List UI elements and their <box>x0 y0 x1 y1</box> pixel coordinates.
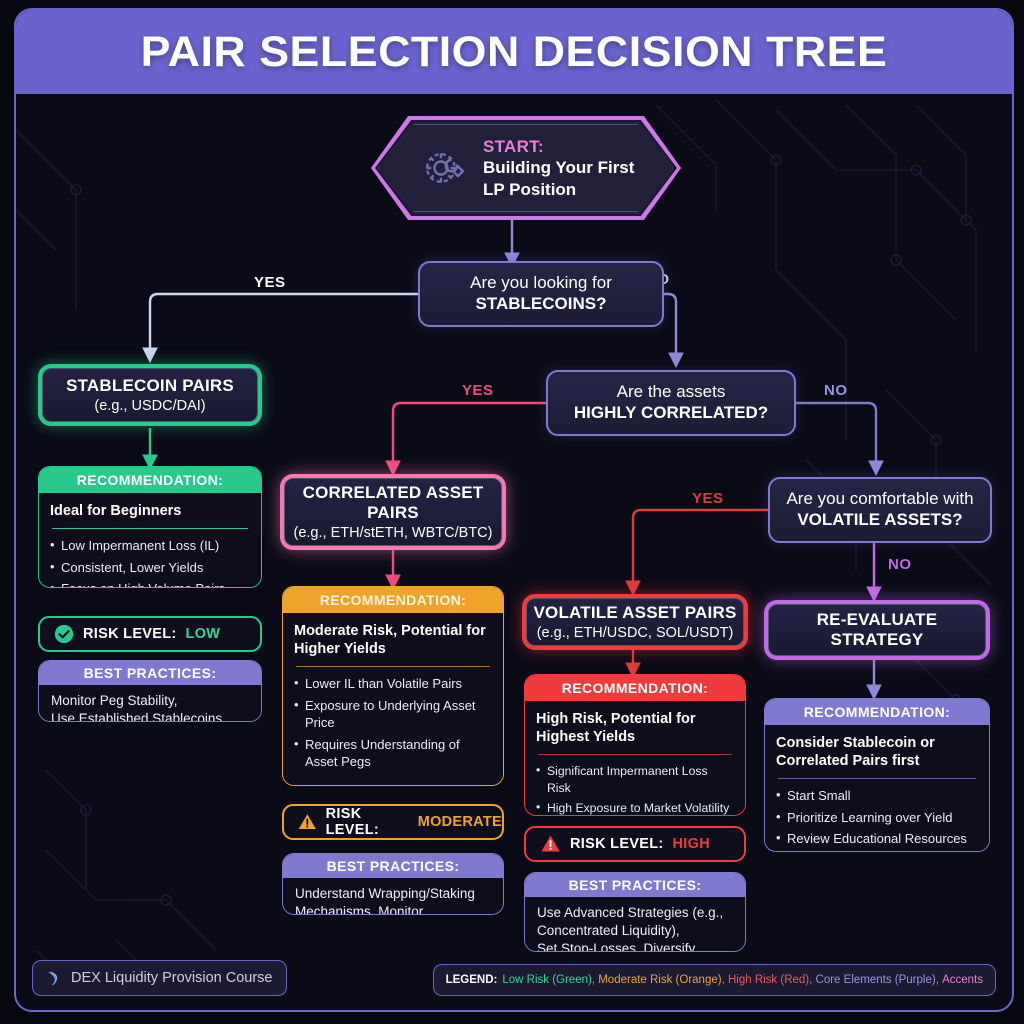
risk-badge-volatile-value: HIGH <box>673 836 710 852</box>
risk-badge-correlated: RISK LEVEL: MODERATE <box>282 804 504 840</box>
list-item: High Exposure to Market Volatility <box>536 800 734 816</box>
recommendation-reevaluate-lead: Consider Stablecoin or Correlated Pairs … <box>776 734 978 770</box>
recommendation-reevaluate-bullets: Start Small Prioritize Learning over Yie… <box>776 787 978 848</box>
recommendation-reevaluate: RECOMMENDATION: Consider Stablecoin or C… <box>764 698 990 852</box>
warning-triangle-icon <box>540 834 561 854</box>
edge-label-correlated-no: NO <box>824 382 848 399</box>
recommendation-correlated-bullets: Lower IL than Volatile Pairs Exposure to… <box>294 675 492 771</box>
question-volatile-line1: Are you comfortable with <box>786 489 973 510</box>
infographic-panel: PAIR SELECTION DECISION TREE <box>14 8 1014 1012</box>
question-volatile-line2: VOLATILE ASSETS? <box>797 510 962 531</box>
outcome-reevaluate-strategy-body: RE-EVALUATE STRATEGY <box>768 604 986 656</box>
best-practices-volatile-line3: Set Stop-Losses, Diversify <box>537 940 735 952</box>
outcome-stablecoin-pairs[interactable]: STABLECOIN PAIRS (e.g., USDC/DAI) <box>38 364 262 426</box>
recommendation-stablecoin: RECOMMENDATION: Ideal for Beginners Low … <box>38 466 262 588</box>
best-practices-correlated-line2: Mechanisms, Monitor Correlation <box>295 903 493 915</box>
risk-badge-correlated-value: MODERATE <box>418 814 502 830</box>
recommendation-volatile-heading: RECOMMENDATION: <box>525 675 745 701</box>
question-volatile[interactable]: Are you comfortable with VOLATILE ASSETS… <box>768 477 992 543</box>
header-bar: PAIR SELECTION DECISION TREE <box>16 10 1012 94</box>
legend-item-core-elements: Core Elements (Purple) <box>816 974 936 986</box>
best-practices-stablecoin-heading: BEST PRACTICES: <box>39 661 261 685</box>
best-practices-volatile-line1: Use Advanced Strategies (e.g., <box>537 904 735 922</box>
check-circle-icon <box>54 624 74 644</box>
start-node[interactable]: START: Building Your First LP Position <box>371 116 681 220</box>
list-item: Start Small <box>776 787 978 805</box>
edge-label-stablecoins-yes: YES <box>254 274 286 291</box>
list-item: Exposure to Underlying Asset Price <box>294 697 492 732</box>
risk-badge-correlated-label: RISK LEVEL: <box>326 806 409 838</box>
list-item: Prioritize Learning over Yield <box>776 809 978 827</box>
start-line-1: Building Your First <box>483 157 634 178</box>
start-kicker: START: <box>483 136 634 157</box>
best-practices-volatile-line2: Concentrated Liquidity), <box>537 922 735 940</box>
list-item: Consistent, Lower Yields <box>50 559 250 577</box>
best-practices-correlated-heading: BEST PRACTICES: <box>283 854 503 878</box>
legend-item-high-risk: High Risk (Red) <box>728 974 809 986</box>
risk-badge-stablecoin-value: LOW <box>186 626 221 642</box>
best-practices-stablecoin-line1: Monitor Peg Stability, <box>51 692 251 710</box>
recommendation-volatile: RECOMMENDATION: High Risk, Potential for… <box>524 674 746 816</box>
best-practices-correlated: BEST PRACTICES: Understand Wrapping/Stak… <box>282 853 504 915</box>
legend: LEGEND: Low Risk (Green), Moderate Risk … <box>433 964 996 996</box>
footer-brand: DEX Liquidity Provision Course <box>32 960 287 996</box>
gear-wrench-icon <box>419 142 471 194</box>
list-item: Review Educational Resources <box>776 830 978 848</box>
warning-triangle-icon <box>298 812 317 832</box>
outcome-correlated-pairs-body: CORRELATED ASSET PAIRS (e.g., ETH/stETH,… <box>284 478 502 546</box>
question-stablecoins-line1: Are you looking for <box>470 273 612 294</box>
best-practices-volatile-heading: BEST PRACTICES: <box>525 873 745 897</box>
legend-label: LEGEND: <box>446 974 498 986</box>
question-correlated-line2: HIGHLY CORRELATED? <box>574 403 768 424</box>
recommendation-stablecoin-lead: Ideal for Beginners <box>50 502 250 520</box>
legend-item-accents: Accents <box>942 974 983 986</box>
recommendation-correlated-body: Moderate Risk, Potential for Higher Yiel… <box>283 613 503 785</box>
recommendation-volatile-lead: High Risk, Potential for Highest Yields <box>536 710 734 746</box>
recommendation-correlated: RECOMMENDATION: Moderate Risk, Potential… <box>282 586 504 786</box>
edge-label-volatile-yes: YES <box>692 490 724 507</box>
risk-badge-stablecoin: RISK LEVEL: LOW <box>38 616 262 652</box>
outcome-stablecoin-pairs-title: STABLECOIN PAIRS <box>66 376 234 396</box>
outcome-correlated-pairs-title: CORRELATED ASSET PAIRS <box>285 483 501 522</box>
outcome-stablecoin-pairs-body: STABLECOIN PAIRS (e.g., USDC/DAI) <box>42 368 258 422</box>
risk-badge-volatile-label: RISK LEVEL: <box>570 836 664 852</box>
edge-label-correlated-yes: YES <box>462 382 494 399</box>
question-stablecoins[interactable]: Are you looking for STABLECOINS? <box>418 261 664 327</box>
start-line-2: LP Position <box>483 179 634 200</box>
recommendation-stablecoin-body: Ideal for Beginners Low Impermanent Loss… <box>39 493 261 588</box>
question-stablecoins-line2: STABLECOINS? <box>476 294 607 315</box>
best-practices-volatile-body: Use Advanced Strategies (e.g., Concentra… <box>525 897 745 952</box>
recommendation-correlated-heading: RECOMMENDATION: <box>283 587 503 613</box>
list-item: Significant Impermanent Loss Risk <box>536 763 734 796</box>
recommendation-stablecoin-bullets: Low Impermanent Loss (IL) Consistent, Lo… <box>50 537 250 588</box>
risk-badge-volatile: RISK LEVEL: HIGH <box>524 826 746 862</box>
outcome-reevaluate-strategy[interactable]: RE-EVALUATE STRATEGY <box>764 600 990 660</box>
start-node-text: START: Building Your First LP Position <box>483 136 634 200</box>
best-practices-stablecoin-line2: Use Established Stablecoins <box>51 710 251 722</box>
outcome-correlated-pairs[interactable]: CORRELATED ASSET PAIRS (e.g., ETH/stETH,… <box>280 474 506 550</box>
recommendation-stablecoin-heading: RECOMMENDATION: <box>39 467 261 493</box>
footer-brand-label: DEX Liquidity Provision Course <box>71 970 272 986</box>
edge-label-volatile-no: NO <box>888 556 912 573</box>
legend-item-moderate-risk: Moderate Risk (Orange) <box>598 974 721 986</box>
list-item: Requires Understanding of Asset Pegs <box>294 736 492 771</box>
divider <box>296 666 490 667</box>
list-item: Low Impermanent Loss (IL) <box>50 537 250 555</box>
legend-item-low-risk: Low Risk (Green) <box>502 974 591 986</box>
outcome-correlated-pairs-subtitle: (e.g., ETH/stETH, WBTC/BTC) <box>294 525 493 541</box>
outcome-reevaluate-strategy-title: RE-EVALUATE STRATEGY <box>769 610 985 649</box>
infographic-root: PAIR SELECTION DECISION TREE <box>0 0 1024 1024</box>
recommendation-reevaluate-body: Consider Stablecoin or Correlated Pairs … <box>765 725 989 852</box>
swirl-logo-icon <box>44 969 63 988</box>
best-practices-volatile: BEST PRACTICES: Use Advanced Strategies … <box>524 872 746 952</box>
list-item: Focus on High Volume Pairs <box>50 580 250 588</box>
recommendation-correlated-lead: Moderate Risk, Potential for Higher Yiel… <box>294 622 492 658</box>
outcome-volatile-pairs[interactable]: VOLATILE ASSET PAIRS (e.g., ETH/USDC, SO… <box>522 594 748 650</box>
best-practices-correlated-line1: Understand Wrapping/Staking <box>295 885 493 903</box>
outcome-stablecoin-pairs-subtitle: (e.g., USDC/DAI) <box>94 398 205 414</box>
recommendation-volatile-body: High Risk, Potential for Highest Yields … <box>525 701 745 816</box>
list-item: Lower IL than Volatile Pairs <box>294 675 492 693</box>
question-correlated-line1: Are the assets <box>617 382 726 403</box>
best-practices-stablecoin-body: Monitor Peg Stability, Use Established S… <box>39 685 261 722</box>
recommendation-volatile-bullets: Significant Impermanent Loss Risk High E… <box>536 763 734 816</box>
divider <box>778 778 976 779</box>
risk-badge-stablecoin-label: RISK LEVEL: <box>83 626 177 642</box>
outcome-volatile-pairs-subtitle: (e.g., ETH/USDC, SOL/USDT) <box>537 625 734 641</box>
page-title: PAIR SELECTION DECISION TREE <box>141 28 888 77</box>
best-practices-correlated-body: Understand Wrapping/Staking Mechanisms, … <box>283 878 503 915</box>
divider <box>538 754 732 755</box>
question-correlated[interactable]: Are the assets HIGHLY CORRELATED? <box>546 370 796 436</box>
divider <box>52 528 248 529</box>
outcome-volatile-pairs-body: VOLATILE ASSET PAIRS (e.g., ETH/USDC, SO… <box>526 598 744 646</box>
recommendation-reevaluate-heading: RECOMMENDATION: <box>765 699 989 725</box>
outcome-volatile-pairs-title: VOLATILE ASSET PAIRS <box>534 603 737 623</box>
best-practices-stablecoin: BEST PRACTICES: Monitor Peg Stability, U… <box>38 660 262 722</box>
